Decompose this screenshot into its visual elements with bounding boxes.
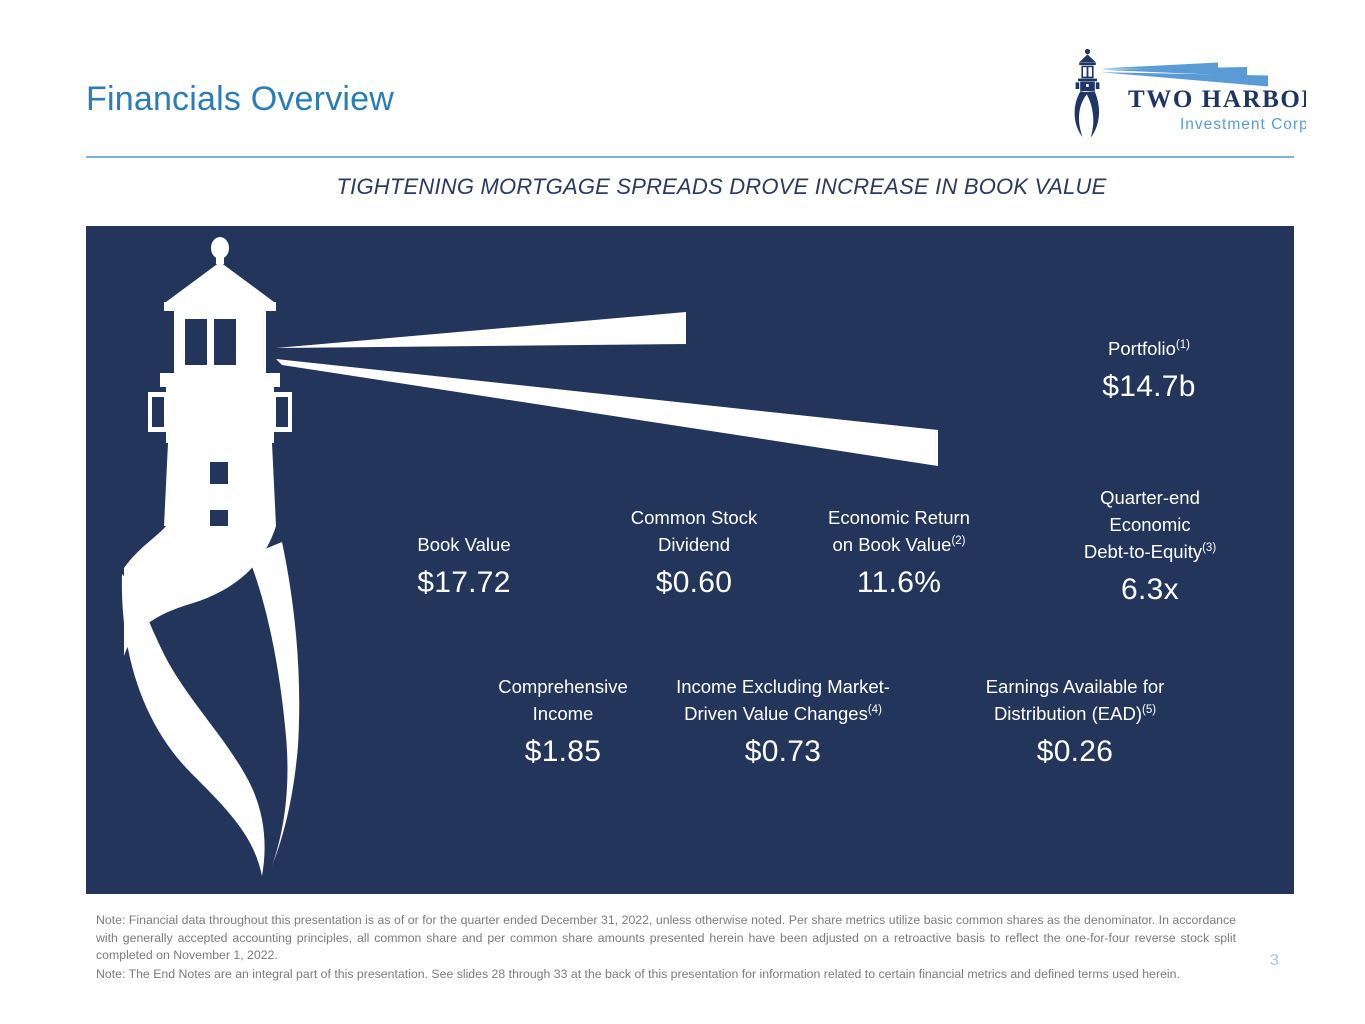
lighthouse-icon — [1075, 49, 1100, 138]
metric-income-excluding-market-driven: Income Excluding Market- Driven Value Ch… — [638, 673, 928, 769]
header-divider — [86, 156, 1294, 158]
metric-comprehensive-income: Comprehensive Income $1.85 — [458, 673, 668, 769]
slide-subtitle: TIGHTENING MORTGAGE SPREADS DROVE INCREA… — [0, 174, 1365, 200]
metric-ead-label: Earnings Available for Distribution (EAD… — [946, 673, 1204, 727]
metric-debt-equity-label: Quarter-end Economic Debt-to-Equity(3) — [1044, 484, 1256, 565]
logo-name-primary: TWO HARBORS — [1128, 86, 1306, 113]
metric-earnings-available-for-distribution: Earnings Available for Distribution (EAD… — [946, 673, 1204, 769]
metric-econ-return-label: Economic Return on Book Value(2) — [796, 504, 1002, 558]
metric-book-value-label: Book Value — [361, 531, 567, 558]
company-logo: TWO HARBORS Investment Corp. — [1068, 45, 1306, 140]
metric-portfolio-label: Portfolio(1) — [1046, 335, 1252, 362]
logo-name-secondary: Investment Corp. — [1180, 116, 1306, 133]
metrics-panel: Portfolio(1) $14.7b Book Value $17.72 Co… — [86, 226, 1294, 894]
footnote-marker-2: (2) — [951, 535, 965, 547]
metric-econ-return-value: 11.6% — [796, 566, 1002, 600]
metric-common-stock-dividend: Common Stock Dividend $0.60 — [591, 504, 797, 600]
page-title: Financials Overview — [86, 80, 394, 119]
footnote-marker-3: (3) — [1202, 542, 1216, 554]
metric-debt-to-equity: Quarter-end Economic Debt-to-Equity(3) 6… — [1044, 484, 1256, 607]
metric-comprehensive-label: Comprehensive Income — [458, 673, 668, 727]
footnote-marker-4: (4) — [868, 704, 882, 716]
footnote-paragraph-2: Note: The End Notes are an integral part… — [96, 966, 1236, 984]
metric-book-value: Book Value $17.72 — [361, 531, 567, 600]
metric-debt-equity-value: 6.3x — [1044, 573, 1256, 607]
metric-dividend-label: Common Stock Dividend — [591, 504, 797, 558]
page-number: 3 — [1270, 952, 1279, 970]
footnote-paragraph-1: Note: Financial data throughout this pre… — [96, 912, 1236, 965]
metric-portfolio-value: $14.7b — [1046, 370, 1252, 404]
footnote-marker-5: (5) — [1142, 704, 1156, 716]
metric-economic-return: Economic Return on Book Value(2) 11.6% — [796, 504, 1002, 600]
metric-income-excl-label: Income Excluding Market- Driven Value Ch… — [638, 673, 928, 727]
metric-ead-value: $0.26 — [946, 735, 1204, 769]
metric-income-excl-value: $0.73 — [638, 735, 928, 769]
metric-portfolio: Portfolio(1) $14.7b — [1046, 335, 1252, 404]
metric-comprehensive-value: $1.85 — [458, 735, 668, 769]
slide-root: Financials Overview — [0, 0, 1365, 1024]
metric-dividend-value: $0.60 — [591, 566, 797, 600]
footnote-marker-1: (1) — [1176, 339, 1190, 351]
logo-beams-icon — [1101, 63, 1268, 87]
light-beam-icon — [276, 312, 938, 466]
metric-book-value-value: $17.72 — [361, 566, 567, 600]
lighthouse-icon — [122, 237, 299, 876]
footnotes: Note: Financial data throughout this pre… — [96, 912, 1236, 983]
